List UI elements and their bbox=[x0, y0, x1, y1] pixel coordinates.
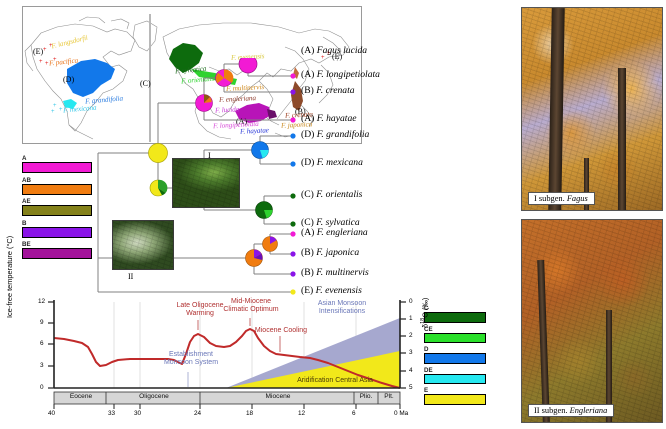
node-pie-lucida-longi bbox=[239, 58, 257, 73]
tip-species-name-5: F. mexicana bbox=[317, 157, 363, 168]
annotation-mid-miocene-optimum: Mid-MioceneClimatic Optimum bbox=[216, 298, 286, 314]
tip-region-code-5: (D) bbox=[301, 157, 317, 168]
xtick-18: 18 bbox=[246, 410, 253, 417]
chart-y2label: δ18O (‰) bbox=[420, 282, 429, 328]
xtick-0-ma: 0 Ma bbox=[394, 410, 408, 417]
tip-species-name-8: F. engleriana bbox=[317, 227, 368, 238]
epoch-oligocene: Oligocene bbox=[108, 393, 200, 400]
annotation-miocene-cooling: Miocene Cooling bbox=[250, 327, 312, 335]
tree-tip-1: (A) F. longipetiolata bbox=[301, 70, 380, 80]
tip-species-name-11: F. evenensis bbox=[316, 285, 362, 296]
tip-region-code-1: (A) bbox=[301, 69, 317, 80]
annotation-monsoon-establishment: EstablishmentMonsoon System bbox=[152, 351, 230, 367]
y2tick-0: 0 bbox=[409, 298, 413, 305]
chart-ylabel: Ice-free temperature (°C) bbox=[5, 218, 14, 318]
tip-region-code-2: (B) bbox=[301, 85, 316, 96]
svg-text:+: + bbox=[39, 59, 43, 65]
svg-text:+: + bbox=[43, 47, 47, 53]
tip-region-code-11: (E) bbox=[301, 285, 316, 296]
ytick-0: 0 bbox=[40, 384, 44, 391]
tip-species-name-3: F. hayatae bbox=[317, 113, 357, 124]
epoch-miocene: Miocene bbox=[202, 393, 354, 400]
tree-tip-5: (D) F. mexicana bbox=[301, 158, 363, 168]
tip-species-name-9: F. japonica bbox=[316, 247, 359, 258]
legend-left-label-A: A bbox=[22, 155, 92, 162]
y2tick-2: 2 bbox=[409, 332, 413, 339]
tip-region-code-0: (A) bbox=[301, 45, 317, 56]
tip-region-code-6: (C) bbox=[301, 189, 316, 200]
legend-left-swatch-BE bbox=[22, 248, 92, 259]
photo-fagus-canopy: I subgen. Fagus bbox=[521, 7, 663, 211]
photo-caption-engleriana: II subgen. Engleriana bbox=[528, 404, 614, 417]
tip-species-name-6: F. orientalis bbox=[316, 189, 362, 200]
tree-tip-6: (C) F. orientalis bbox=[301, 190, 362, 200]
photo-caption-fagus: I subgen. Fagus bbox=[528, 192, 595, 205]
legend-left-item-AB: AB bbox=[22, 177, 92, 195]
paleoclimate-chart: 12 9 6 3 0 0 1 2 3 4 5 40 33 30 24 18 12… bbox=[18, 296, 438, 422]
node-pie-crenata-clade bbox=[216, 69, 234, 86]
legend-left-swatch-AB bbox=[22, 184, 92, 195]
legend-left-item-BE: BE bbox=[22, 241, 92, 259]
map-region-code-0: (E) bbox=[33, 47, 43, 56]
ytick-3: 3 bbox=[40, 362, 44, 369]
xtick-12: 12 bbox=[298, 410, 305, 417]
tree-tip-4: (D) F. grandifolia bbox=[301, 130, 369, 140]
annotation-leaders-red bbox=[198, 318, 280, 352]
xtick-33: 33 bbox=[108, 410, 115, 417]
tip-region-code-3: (A) bbox=[301, 113, 317, 124]
epoch-pleistocene: Plt. bbox=[378, 393, 400, 400]
xtick-30: 30 bbox=[134, 410, 141, 417]
tip-region-code-8: (A) bbox=[301, 227, 317, 238]
annotation-asian-monsoon: Asian MonsoonIntensifications bbox=[306, 300, 378, 316]
legend-left-swatch-AE bbox=[22, 205, 92, 216]
xtick-24: 24 bbox=[194, 410, 201, 417]
tree-tip-8: (A) F. engleriana bbox=[301, 228, 368, 238]
node-pie-orientalis-sylvatica bbox=[256, 202, 273, 219]
map-region-code-1: (D) bbox=[63, 75, 74, 84]
photo-subgen-fagus-leaves bbox=[172, 158, 240, 208]
epoch-pliocene: Plio. bbox=[354, 393, 378, 400]
tree-tip-11: (E) F. evenensis bbox=[301, 286, 362, 296]
chart-y2-ticks bbox=[400, 302, 406, 388]
y2tick-5: 5 bbox=[409, 384, 413, 391]
legend-left-swatch-B bbox=[22, 227, 92, 238]
legend-left-label-B: B bbox=[22, 220, 92, 227]
legend-left-label-BE: BE bbox=[22, 241, 92, 248]
tree-tip-0: (A) Fagus lucida bbox=[301, 46, 367, 56]
tip-species-name-10: F. multinervis bbox=[316, 267, 369, 278]
tree-tip-9: (B) F. japonica bbox=[301, 248, 359, 258]
node-pie-root bbox=[149, 144, 168, 163]
node-pie-engleriana-japonica bbox=[263, 236, 278, 251]
tip-region-code-4: (D) bbox=[301, 129, 317, 140]
xtick-40: 40 bbox=[48, 410, 55, 417]
y2tick-1: 1 bbox=[409, 315, 413, 322]
legend-left-item-A: A bbox=[22, 155, 92, 173]
tip-species-name-0: Fagus lucida bbox=[317, 45, 367, 56]
tree-tip-10: (B) F. multinervis bbox=[301, 268, 369, 278]
node-pie-hayatae-clade bbox=[196, 95, 213, 112]
legend-left-label-AE: AE bbox=[22, 198, 92, 205]
photo-engleriana-canopy: II subgen. Engleriana bbox=[521, 219, 663, 423]
photo-subgen-engleriana-leaves bbox=[112, 220, 174, 270]
ytick-9: 9 bbox=[40, 319, 44, 326]
svg-text:+: + bbox=[51, 109, 55, 115]
epoch-eocene: Eocene bbox=[56, 393, 106, 400]
y2tick-3: 3 bbox=[409, 349, 413, 356]
tree-tip-2: (B) F. crenata bbox=[301, 86, 355, 96]
chart-y-ticks bbox=[48, 302, 54, 388]
legend-left-swatch-A bbox=[22, 162, 92, 173]
node-pie-grandifolia-mexicana bbox=[252, 142, 269, 159]
xtick-6: 6 bbox=[352, 410, 356, 417]
tip-species-name-1: F. longipetiolata bbox=[317, 69, 380, 80]
tip-species-name-2: F. crenata bbox=[316, 85, 354, 96]
chart-x-ticks bbox=[54, 404, 400, 409]
ytick-12: 12 bbox=[38, 298, 45, 305]
tip-region-code-10: (B) bbox=[301, 267, 316, 278]
node-pie-engleriana-clade bbox=[246, 250, 263, 267]
node-pie-subgen-split bbox=[150, 180, 167, 196]
tip-species-name-4: F. grandifolia bbox=[317, 129, 370, 140]
occurrence-crosses-mex: +++ bbox=[51, 103, 63, 115]
y2tick-4: 4 bbox=[409, 367, 413, 374]
legend-left-item-B: B bbox=[22, 220, 92, 238]
legend-regions-left: AABAEBBE bbox=[22, 155, 92, 263]
legend-left-item-AE: AE bbox=[22, 198, 92, 216]
tip-region-code-9: (B) bbox=[301, 247, 316, 258]
annotation-aridification: Aridification Central Asia bbox=[280, 377, 390, 385]
tree-tip-3: (A) F. hayatae bbox=[301, 114, 357, 124]
legend-left-label-AB: AB bbox=[22, 177, 92, 184]
ytick-6: 6 bbox=[40, 340, 44, 347]
clade-mark-II: II bbox=[128, 272, 133, 281]
